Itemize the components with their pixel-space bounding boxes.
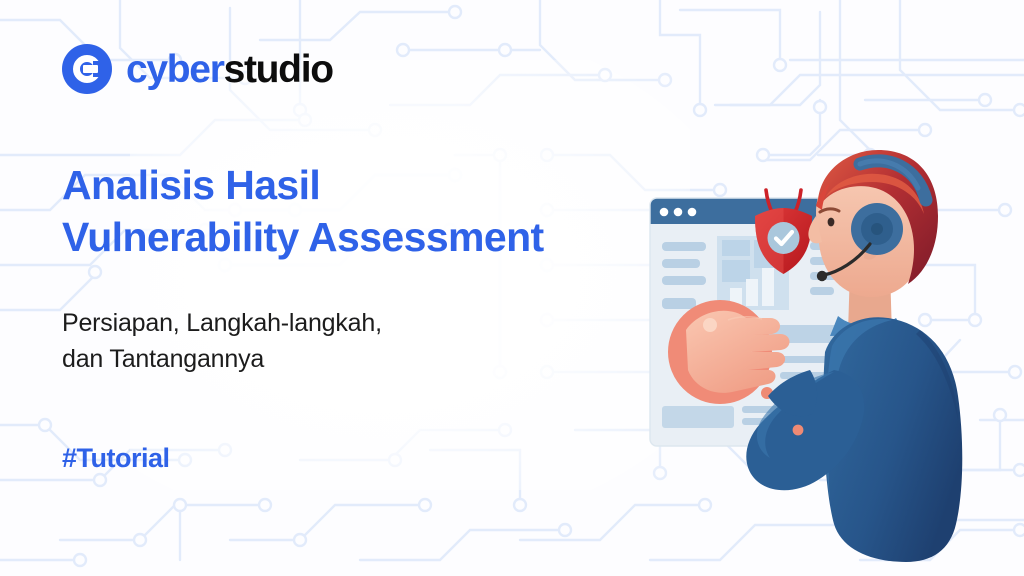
hero-illustration (620, 120, 1024, 576)
brand-name-part2: studio (224, 48, 333, 91)
banner-canvas: cyberstudio Analisis Hasil Vulnerability… (0, 0, 1024, 576)
hero-copy: Analisis Hasil Vulnerability Assessment … (62, 160, 662, 377)
page-subtitle: Persiapan, Langkah-langkah, dan Tantanga… (62, 305, 662, 377)
brand-wordmark: cyberstudio (126, 50, 333, 89)
brand-name-part1: cyber (126, 48, 224, 91)
brand-logo[interactable]: cyberstudio (62, 44, 333, 94)
cyberstudio-circle-c-icon (62, 44, 112, 94)
hashtag-tag[interactable]: #Tutorial (62, 443, 170, 474)
subhead-line-1: Persiapan, Langkah-langkah, (62, 309, 382, 337)
headline-line-1: Analisis Hasil (62, 162, 320, 208)
page-title: Analisis Hasil Vulnerability Assessment (62, 160, 662, 263)
hand-and-ring-icon (678, 310, 790, 394)
subhead-line-2: dan Tantangannya (62, 345, 264, 373)
headline-line-2: Vulnerability Assessment (62, 214, 544, 260)
